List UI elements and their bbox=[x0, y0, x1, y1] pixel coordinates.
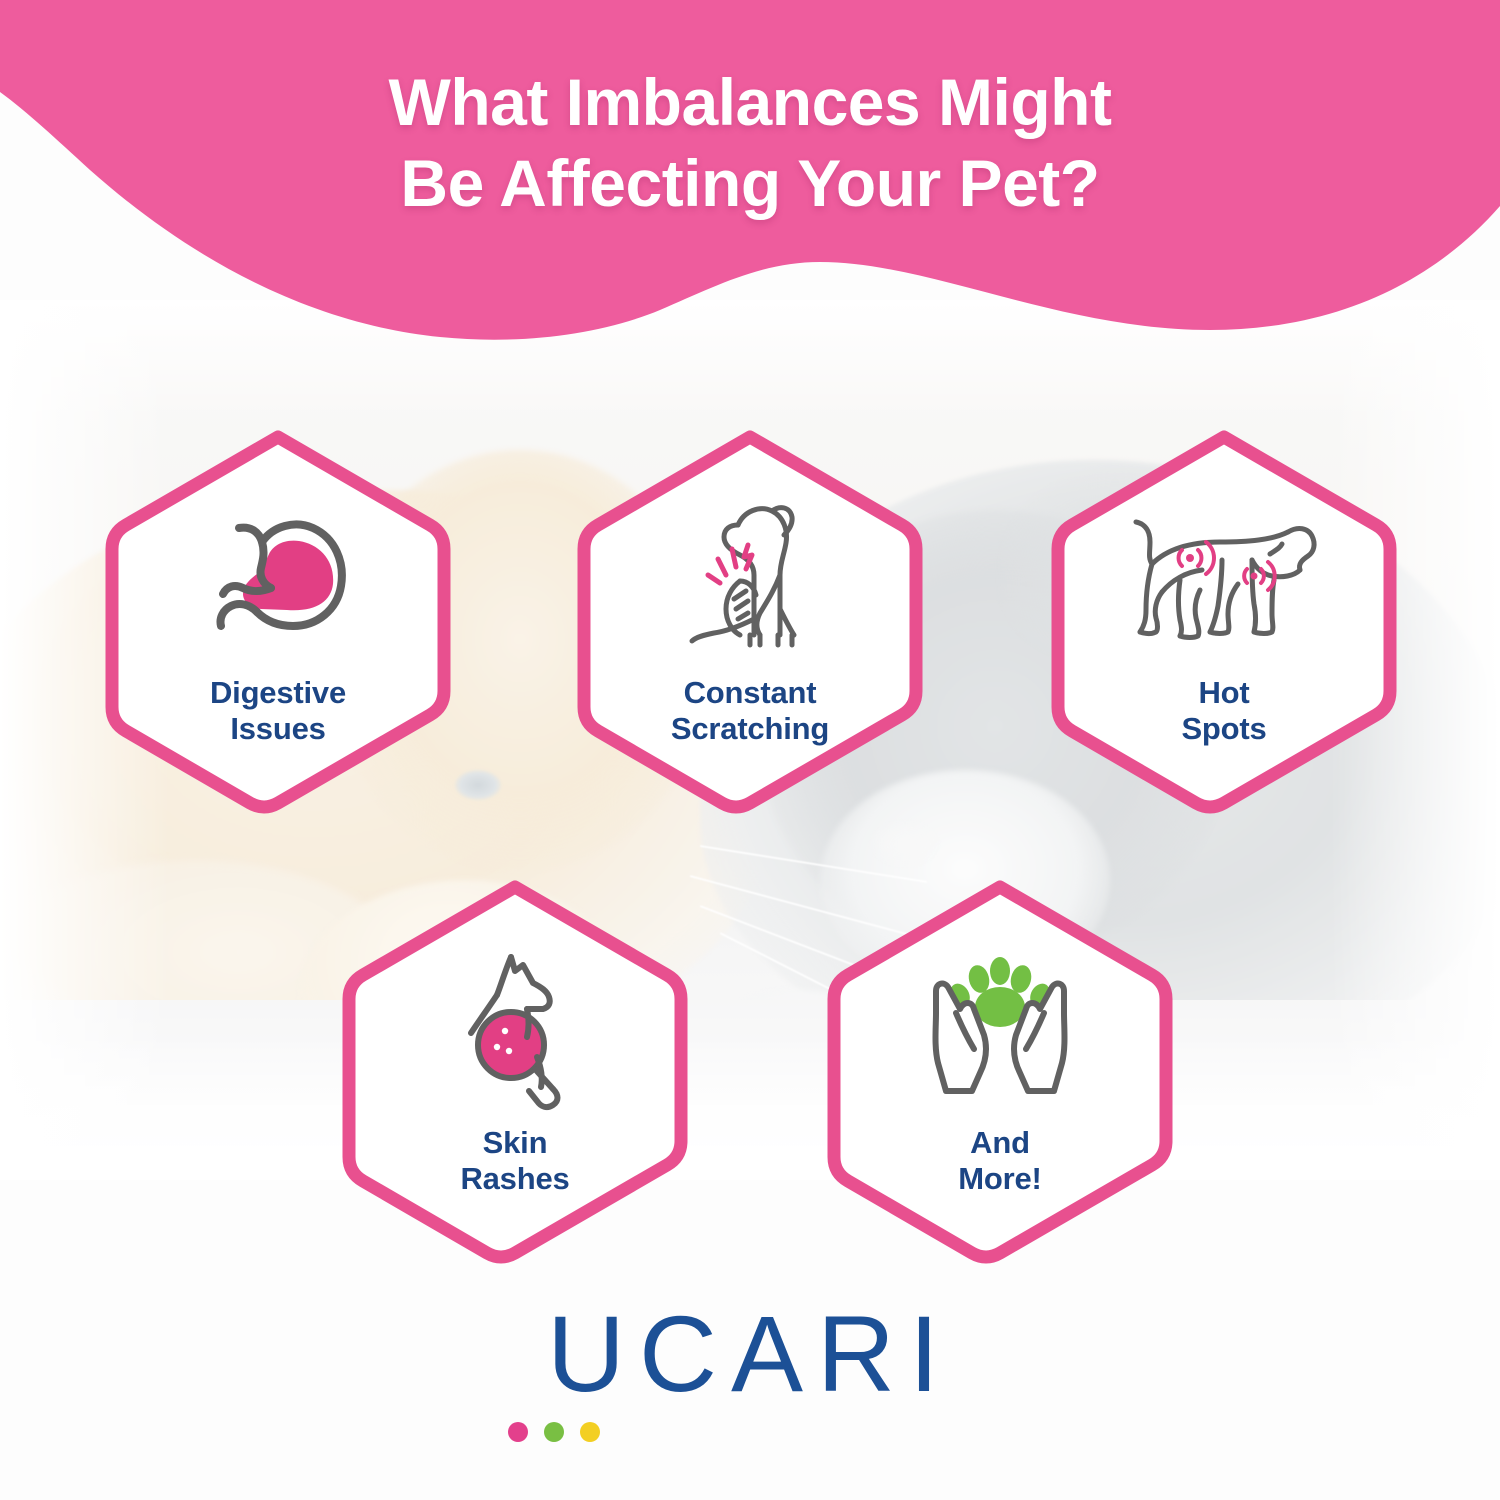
card-label-line-2: Rashes bbox=[337, 1161, 693, 1197]
card-label-line-2: Issues bbox=[100, 711, 456, 747]
card-label-line-2: Scratching bbox=[572, 711, 928, 747]
ucari-logo[interactable]: UCARI bbox=[0, 1300, 1500, 1408]
yellow-dot bbox=[580, 1422, 600, 1442]
card-constant-scratching[interactable]: Constant Scratching bbox=[572, 425, 928, 815]
dog-hotspots-icon bbox=[1046, 487, 1402, 672]
card-label-line-1: And bbox=[822, 1125, 1178, 1161]
header-banner: What Imbalances Might Be Affecting Your … bbox=[0, 0, 1500, 345]
card-label-line-2: Spots bbox=[1046, 711, 1402, 747]
card-label: And More! bbox=[822, 1125, 1178, 1197]
card-digestive-issues[interactable]: Digestive Issues bbox=[100, 425, 456, 815]
card-label-line-1: Digestive bbox=[100, 675, 456, 711]
card-and-more[interactable]: And More! bbox=[822, 875, 1178, 1265]
logo-wordmark: UCARI bbox=[0, 1300, 1500, 1408]
card-label-line-1: Constant bbox=[572, 675, 928, 711]
card-label-line-1: Hot bbox=[1046, 675, 1402, 711]
green-dot bbox=[544, 1422, 564, 1442]
photo-fade-bottom bbox=[0, 1030, 1500, 1180]
pink-dot bbox=[508, 1422, 528, 1442]
title-line-2: Be Affecting Your Pet? bbox=[0, 143, 1500, 224]
dog-magnifier-rash-icon bbox=[337, 937, 693, 1122]
logo-dots bbox=[508, 1422, 600, 1442]
card-label: Skin Rashes bbox=[337, 1125, 693, 1197]
dog-scratching-icon bbox=[572, 487, 928, 672]
card-skin-rashes[interactable]: Skin Rashes bbox=[337, 875, 693, 1265]
card-hot-spots[interactable]: Hot Spots bbox=[1046, 425, 1402, 815]
card-label-line-2: More! bbox=[822, 1161, 1178, 1197]
card-label-line-1: Skin bbox=[337, 1125, 693, 1161]
card-label: Constant Scratching bbox=[572, 675, 928, 747]
hands-paw-icon bbox=[822, 937, 1178, 1122]
page-title: What Imbalances Might Be Affecting Your … bbox=[0, 62, 1500, 223]
card-label: Digestive Issues bbox=[100, 675, 456, 747]
title-line-1: What Imbalances Might bbox=[389, 65, 1112, 139]
card-label: Hot Spots bbox=[1046, 675, 1402, 747]
stomach-icon bbox=[100, 487, 456, 672]
infographic-canvas: What Imbalances Might Be Affecting Your … bbox=[0, 0, 1500, 1500]
